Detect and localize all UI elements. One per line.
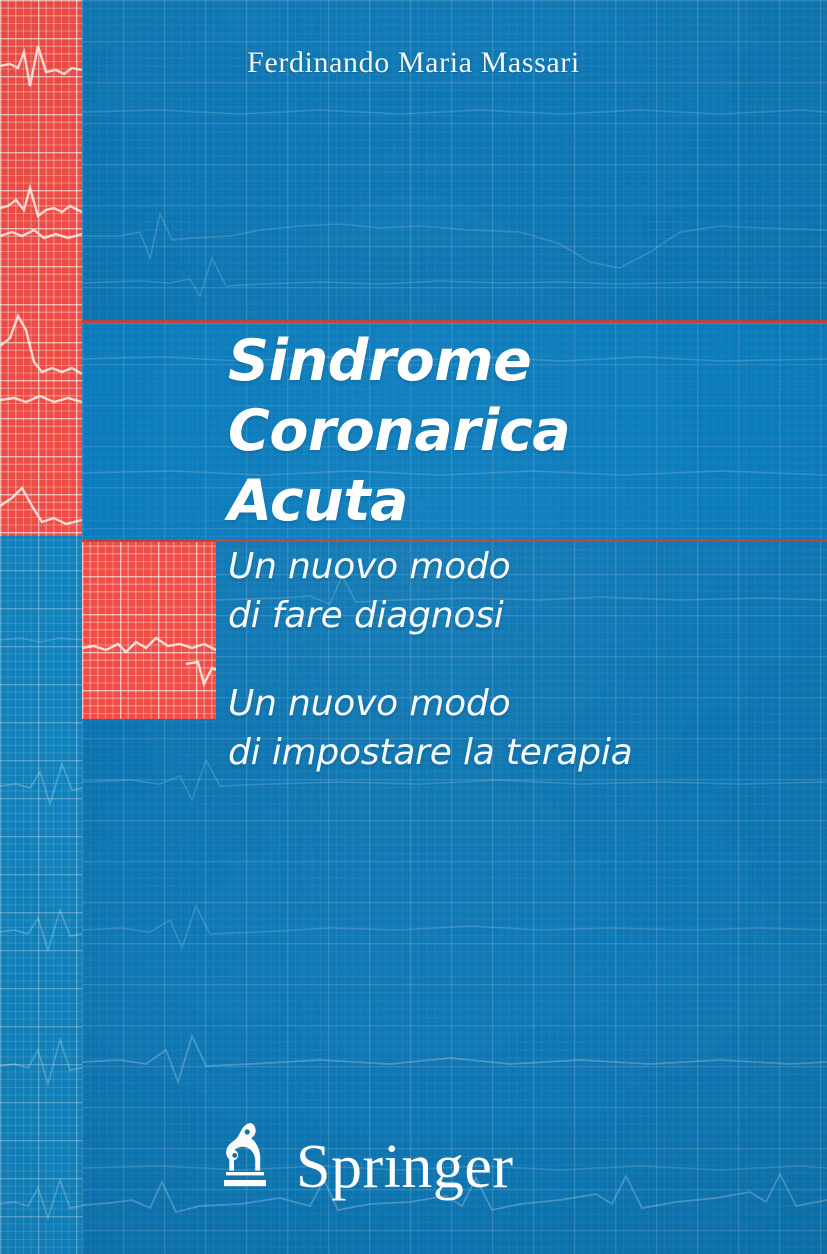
red-ecg-block-mid [82, 538, 216, 719]
ecg-trace-red-block [82, 538, 216, 719]
red-ecg-strip-left [0, 0, 82, 536]
subtitle-line-1a: Un nuovo modo [228, 542, 808, 591]
subtitle-paragraph-2: Un nuovo modo di impostare la terapia [228, 679, 808, 777]
subtitle-line-2b: di impostare la terapia [228, 728, 808, 777]
publisher-name: Springer [296, 1136, 514, 1198]
subtitle-line-1b: di fare diagnosi [228, 591, 808, 640]
book-cover: Ferdinando Maria Massari Sindrome Corona… [0, 0, 827, 1254]
publisher-logo: Springer [222, 1120, 514, 1192]
title-line-2: Coronarica [228, 398, 570, 464]
title-line-3: Acuta [228, 468, 408, 534]
title-line-1: Sindrome [228, 328, 531, 394]
subtitle-paragraph-1: Un nuovo modo di fare diagnosi [228, 542, 808, 640]
book-subtitle: Un nuovo modo di fare diagnosi Un nuovo … [228, 542, 808, 777]
ecg-trace-red-strip [0, 0, 82, 536]
author-name: Ferdinando Maria Massari [0, 46, 827, 80]
springer-knight-icon [222, 1120, 284, 1192]
subtitle-line-2a: Un nuovo modo [228, 679, 808, 728]
book-title: Sindrome Coronarica Acuta [228, 326, 808, 536]
